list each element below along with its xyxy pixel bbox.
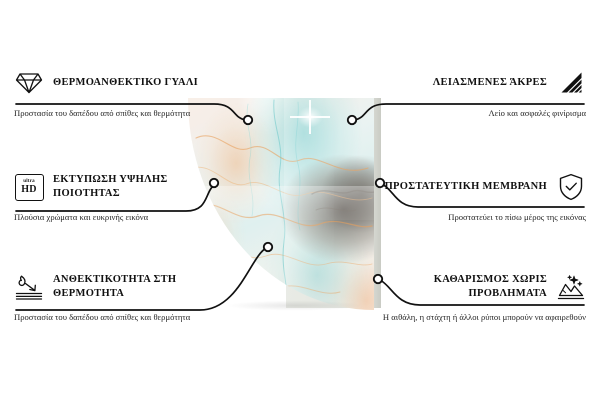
- feature-subtitle: Λείο και ασφαλές φινίρισμα: [371, 107, 586, 120]
- shield-check-icon: [556, 172, 586, 202]
- feature-title: ΑΝΘΕΚΤΙΚΟΤΗΤΑ ΣΤΗ ΘΕΡΜΟΤΗΤΑ: [53, 273, 229, 301]
- feature-title: ΚΑΘΑΡΙΣΜΟΣ ΧΩΡΙΣ ΠΡΟΒΛΗΜΑΤΑ: [371, 273, 547, 301]
- feature-header: ΑΝΘΕΚΤΙΚΟΤΗΤΑ ΣΤΗ ΘΕΡΜΟΤΗΤΑ: [14, 270, 229, 304]
- feature-high-quality-print: ultra HD ΕΚΤΥΠΩΣΗ ΥΨΗΛΗΣ ΠΟΙΟΤΗΤΑΣ Πλούσ…: [14, 170, 229, 224]
- feature-heat-resistant-glass: ΘΕΡΜΟΑΝΘΕΚΤΙΚΟ ΓΥΑΛΙ Προστασία του δαπέδ…: [14, 66, 229, 120]
- ultra-hd-badge-icon: ultra HD: [14, 172, 44, 202]
- infographic-canvas: ΘΕΡΜΟΑΝΘΕΚΤΙΚΟ ΓΥΑΛΙ Προστασία του δαπέδ…: [0, 0, 600, 400]
- feature-header: ΠΡΟΣΤΑΤΕΥΤΙΚΗ ΜΕΜΒΡΑΝΗ: [371, 170, 586, 204]
- flame-deflect-icon: [14, 272, 44, 302]
- feature-easy-cleaning: ΚΑΘΑΡΙΣΜΟΣ ΧΩΡΙΣ ΠΡΟΒΛΗΜΑΤΑ Η αιθάλη, η …: [371, 270, 586, 324]
- diamond-icon: [14, 68, 44, 98]
- feature-subtitle: Προστασία του δαπέδου από σπίθες και θερ…: [14, 107, 229, 120]
- feature-heat-durability: ΑΝΘΕΚΤΙΚΟΤΗΤΑ ΣΤΗ ΘΕΡΜΟΤΗΤΑ Προστασία το…: [14, 270, 229, 324]
- feature-subtitle: Πλούσια χρώματα και ευκρινής εικόνα: [14, 211, 229, 224]
- feature-subtitle: Προστατεύει το πίσω μέρος της εικόνας: [371, 211, 586, 224]
- feature-title: ΘΕΡΜΟΑΝΘΕΚΤΙΚΟ ΓΥΑΛΙ: [53, 76, 198, 90]
- sparkle-clean-icon: [556, 272, 586, 302]
- feature-title: ΕΚΤΥΠΩΣΗ ΥΨΗΛΗΣ ΠΟΙΟΤΗΤΑΣ: [53, 173, 229, 201]
- ultra-hd-badge-main-label: HD: [21, 185, 37, 195]
- feature-title: ΛΕΙΑΣΜΕΝΕΣ ΆΚΡΕΣ: [433, 76, 547, 90]
- feature-subtitle: Προστασία του δαπέδου από σπίθες και θερ…: [14, 311, 229, 324]
- feature-title: ΠΡΟΣΤΑΤΕΥΤΙΚΗ ΜΕΜΒΡΑΝΗ: [385, 180, 547, 194]
- feature-header: ΘΕΡΜΟΑΝΘΕΚΤΙΚΟ ΓΥΑΛΙ: [14, 66, 229, 100]
- diagonal-stripes-icon: [556, 68, 586, 98]
- feature-header: ΚΑΘΑΡΙΣΜΟΣ ΧΩΡΙΣ ΠΡΟΒΛΗΜΑΤΑ: [371, 270, 586, 304]
- feature-header: ΛΕΙΑΣΜΕΝΕΣ ΆΚΡΕΣ: [371, 66, 586, 100]
- feature-subtitle: Η αιθάλη, η στάχτη ή άλλοι ρύποι μπορούν…: [371, 311, 586, 324]
- feature-smooth-edges: ΛΕΙΑΣΜΕΝΕΣ ΆΚΡΕΣ Λείο και ασφαλές φινίρι…: [371, 66, 586, 120]
- feature-header: ultra HD ΕΚΤΥΠΩΣΗ ΥΨΗΛΗΣ ΠΟΙΟΤΗΤΑΣ: [14, 170, 229, 204]
- feature-protective-membrane: ΠΡΟΣΤΑΤΕΥΤΙΚΗ ΜΕΜΒΡΑΝΗ Προστατεύει το πί…: [371, 170, 586, 224]
